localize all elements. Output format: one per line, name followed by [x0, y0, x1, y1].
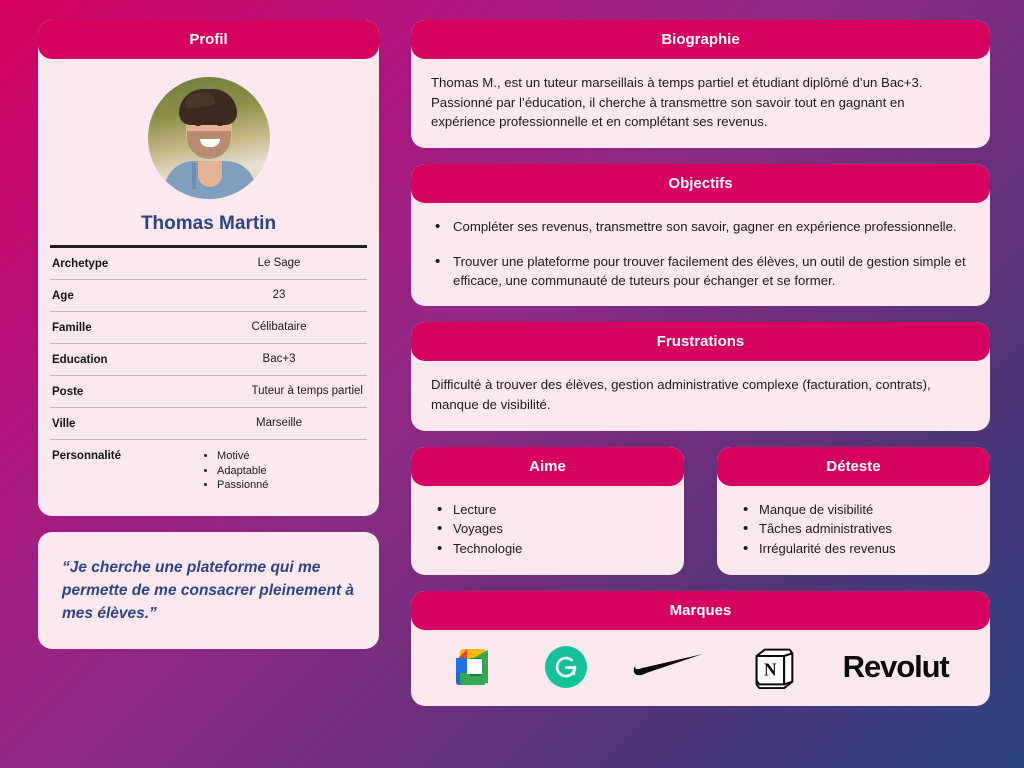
right-column: Biographie Thomas M., est un tuteur mars… [411, 20, 990, 750]
table-row: Age 23 [50, 280, 367, 312]
left-column: Profil Thomas Martin Archetype Le Sage A… [38, 20, 379, 750]
row-value: Célibataire [195, 321, 363, 333]
svg-text:N: N [764, 659, 777, 679]
row-key: Education [52, 353, 195, 366]
objectives-list: Compléter ses revenus, transmettre son s… [431, 217, 970, 290]
table-row: Famille Célibataire [50, 312, 367, 344]
portrait-photo-icon [148, 77, 270, 199]
row-value: Marseille [195, 417, 363, 429]
notion-logo-icon: N [752, 645, 796, 689]
table-row: Poste Tuteur à temps partiel [50, 376, 367, 408]
brands-card: Marques [411, 591, 990, 706]
table-row: Ville Marseille [50, 408, 367, 440]
brands-logo-row: N Revolut [411, 630, 990, 706]
profile-name: Thomas Martin [38, 213, 379, 235]
revolut-logo-icon: Revolut [843, 649, 949, 685]
grammarly-logo-icon [545, 646, 587, 688]
dislikes-card: Déteste Manque de visibilité Tâches admi… [717, 447, 990, 575]
brand-grammarly [545, 640, 587, 694]
biography-card-header: Biographie [411, 20, 990, 59]
persona-page: Profil Thomas Martin Archetype Le Sage A… [0, 0, 1024, 768]
list-item: Adaptable [217, 464, 363, 479]
row-value: 23 [195, 289, 363, 301]
quote-card: “Je cherche une plateforme qui me permet… [38, 532, 379, 650]
row-value: Tuteur à temps partiel [195, 385, 363, 397]
list-item: Lecture [431, 500, 664, 520]
brand-nike [633, 640, 705, 694]
list-item: Motivé [217, 449, 363, 464]
brands-card-header: Marques [411, 591, 990, 630]
row-key: Age [52, 289, 195, 302]
row-value: Motivé Adaptable Passionné [195, 449, 363, 493]
profile-attributes-table: Archetype Le Sage Age 23 Famille Célibat… [50, 245, 367, 502]
likes-list: Lecture Voyages Technologie [431, 500, 664, 559]
likes-card: Aime Lecture Voyages Technologie [411, 447, 684, 575]
row-value: Le Sage [195, 257, 363, 269]
table-row: Education Bac+3 [50, 344, 367, 376]
google-meet-logo-icon [452, 649, 498, 685]
row-key: Personnalité [52, 449, 195, 462]
brand-revolut: Revolut [843, 640, 949, 694]
row-key: Famille [52, 321, 195, 334]
table-row-personality: Personnalité Motivé Adaptable Passionné [50, 440, 367, 502]
list-item: Trouver une plateforme pour trouver faci… [431, 252, 970, 290]
likes-dislikes-row: Aime Lecture Voyages Technologie Déteste… [411, 447, 990, 575]
avatar-container [38, 77, 379, 199]
dislikes-card-header: Déteste [717, 447, 990, 486]
frustrations-card: Frustrations Difficulté à trouver des él… [411, 322, 990, 431]
profile-card-header: Profil [38, 20, 379, 59]
row-key: Poste [52, 385, 195, 398]
objectives-card: Objectifs Compléter ses revenus, transme… [411, 164, 990, 306]
nike-swoosh-logo-icon [633, 653, 705, 681]
list-item: Tâches administratives [737, 519, 970, 539]
row-key: Ville [52, 417, 195, 430]
brand-google-meet [452, 640, 498, 694]
frustrations-card-header: Frustrations [411, 322, 990, 361]
list-item: Compléter ses revenus, transmettre son s… [431, 217, 970, 236]
row-key: Archetype [52, 257, 195, 270]
biography-text: Thomas M., est un tuteur marseillais à t… [431, 73, 970, 132]
list-item: Manque de visibilité [737, 500, 970, 520]
table-row: Archetype Le Sage [50, 248, 367, 280]
list-item: Irrégularité des revenus [737, 539, 970, 559]
likes-card-header: Aime [411, 447, 684, 486]
profile-card: Profil Thomas Martin Archetype Le Sage A… [38, 20, 379, 516]
objectives-card-header: Objectifs [411, 164, 990, 203]
row-value: Bac+3 [195, 353, 363, 365]
brand-notion: N [752, 640, 796, 694]
dislikes-list: Manque de visibilité Tâches administrati… [737, 500, 970, 559]
list-item: Passionné [217, 478, 363, 493]
quote-text: “Je cherche une plateforme qui me permet… [62, 556, 355, 626]
list-item: Voyages [431, 519, 664, 539]
biography-card: Biographie Thomas M., est un tuteur mars… [411, 20, 990, 148]
frustrations-text: Difficulté à trouver des élèves, gestion… [431, 375, 970, 415]
list-item: Technologie [431, 539, 664, 559]
